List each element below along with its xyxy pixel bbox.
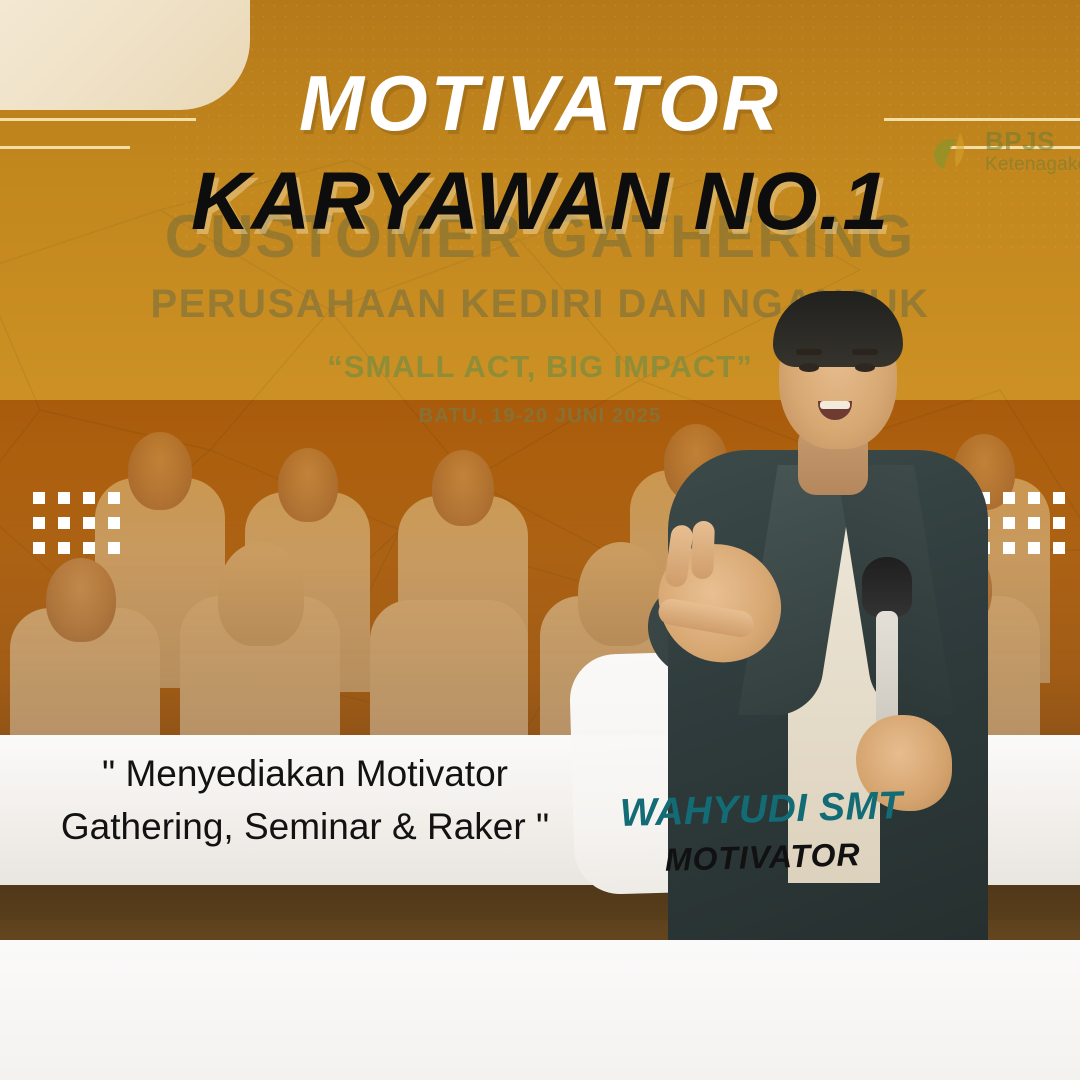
- contact-footer: HUBUNGI : 0819-4654-8000: [0, 940, 1080, 1080]
- quote-line-1: " Menyediakan Motivator: [0, 748, 610, 801]
- dot-grid-left: [33, 492, 120, 554]
- poster-canvas: CUSTOMER GATHERING PERUSAHAAN KEDIRI DAN…: [0, 0, 1080, 1080]
- quote-line-2: Gathering, Seminar & Raker ": [0, 801, 610, 854]
- service-quote: " Menyediakan Motivator Gathering, Semin…: [0, 748, 610, 853]
- speaker-name: WAHYUDI SMT: [571, 783, 952, 838]
- page-title: MOTIVATOR KARYAWAN NO.1: [0, 58, 1080, 249]
- headline-line-2: KARYAWAN NO.1: [0, 155, 1080, 249]
- speaker-name-block: WAHYUDI SMT MOTIVATOR: [571, 783, 953, 882]
- headline-line-1: MOTIVATOR: [0, 58, 1080, 149]
